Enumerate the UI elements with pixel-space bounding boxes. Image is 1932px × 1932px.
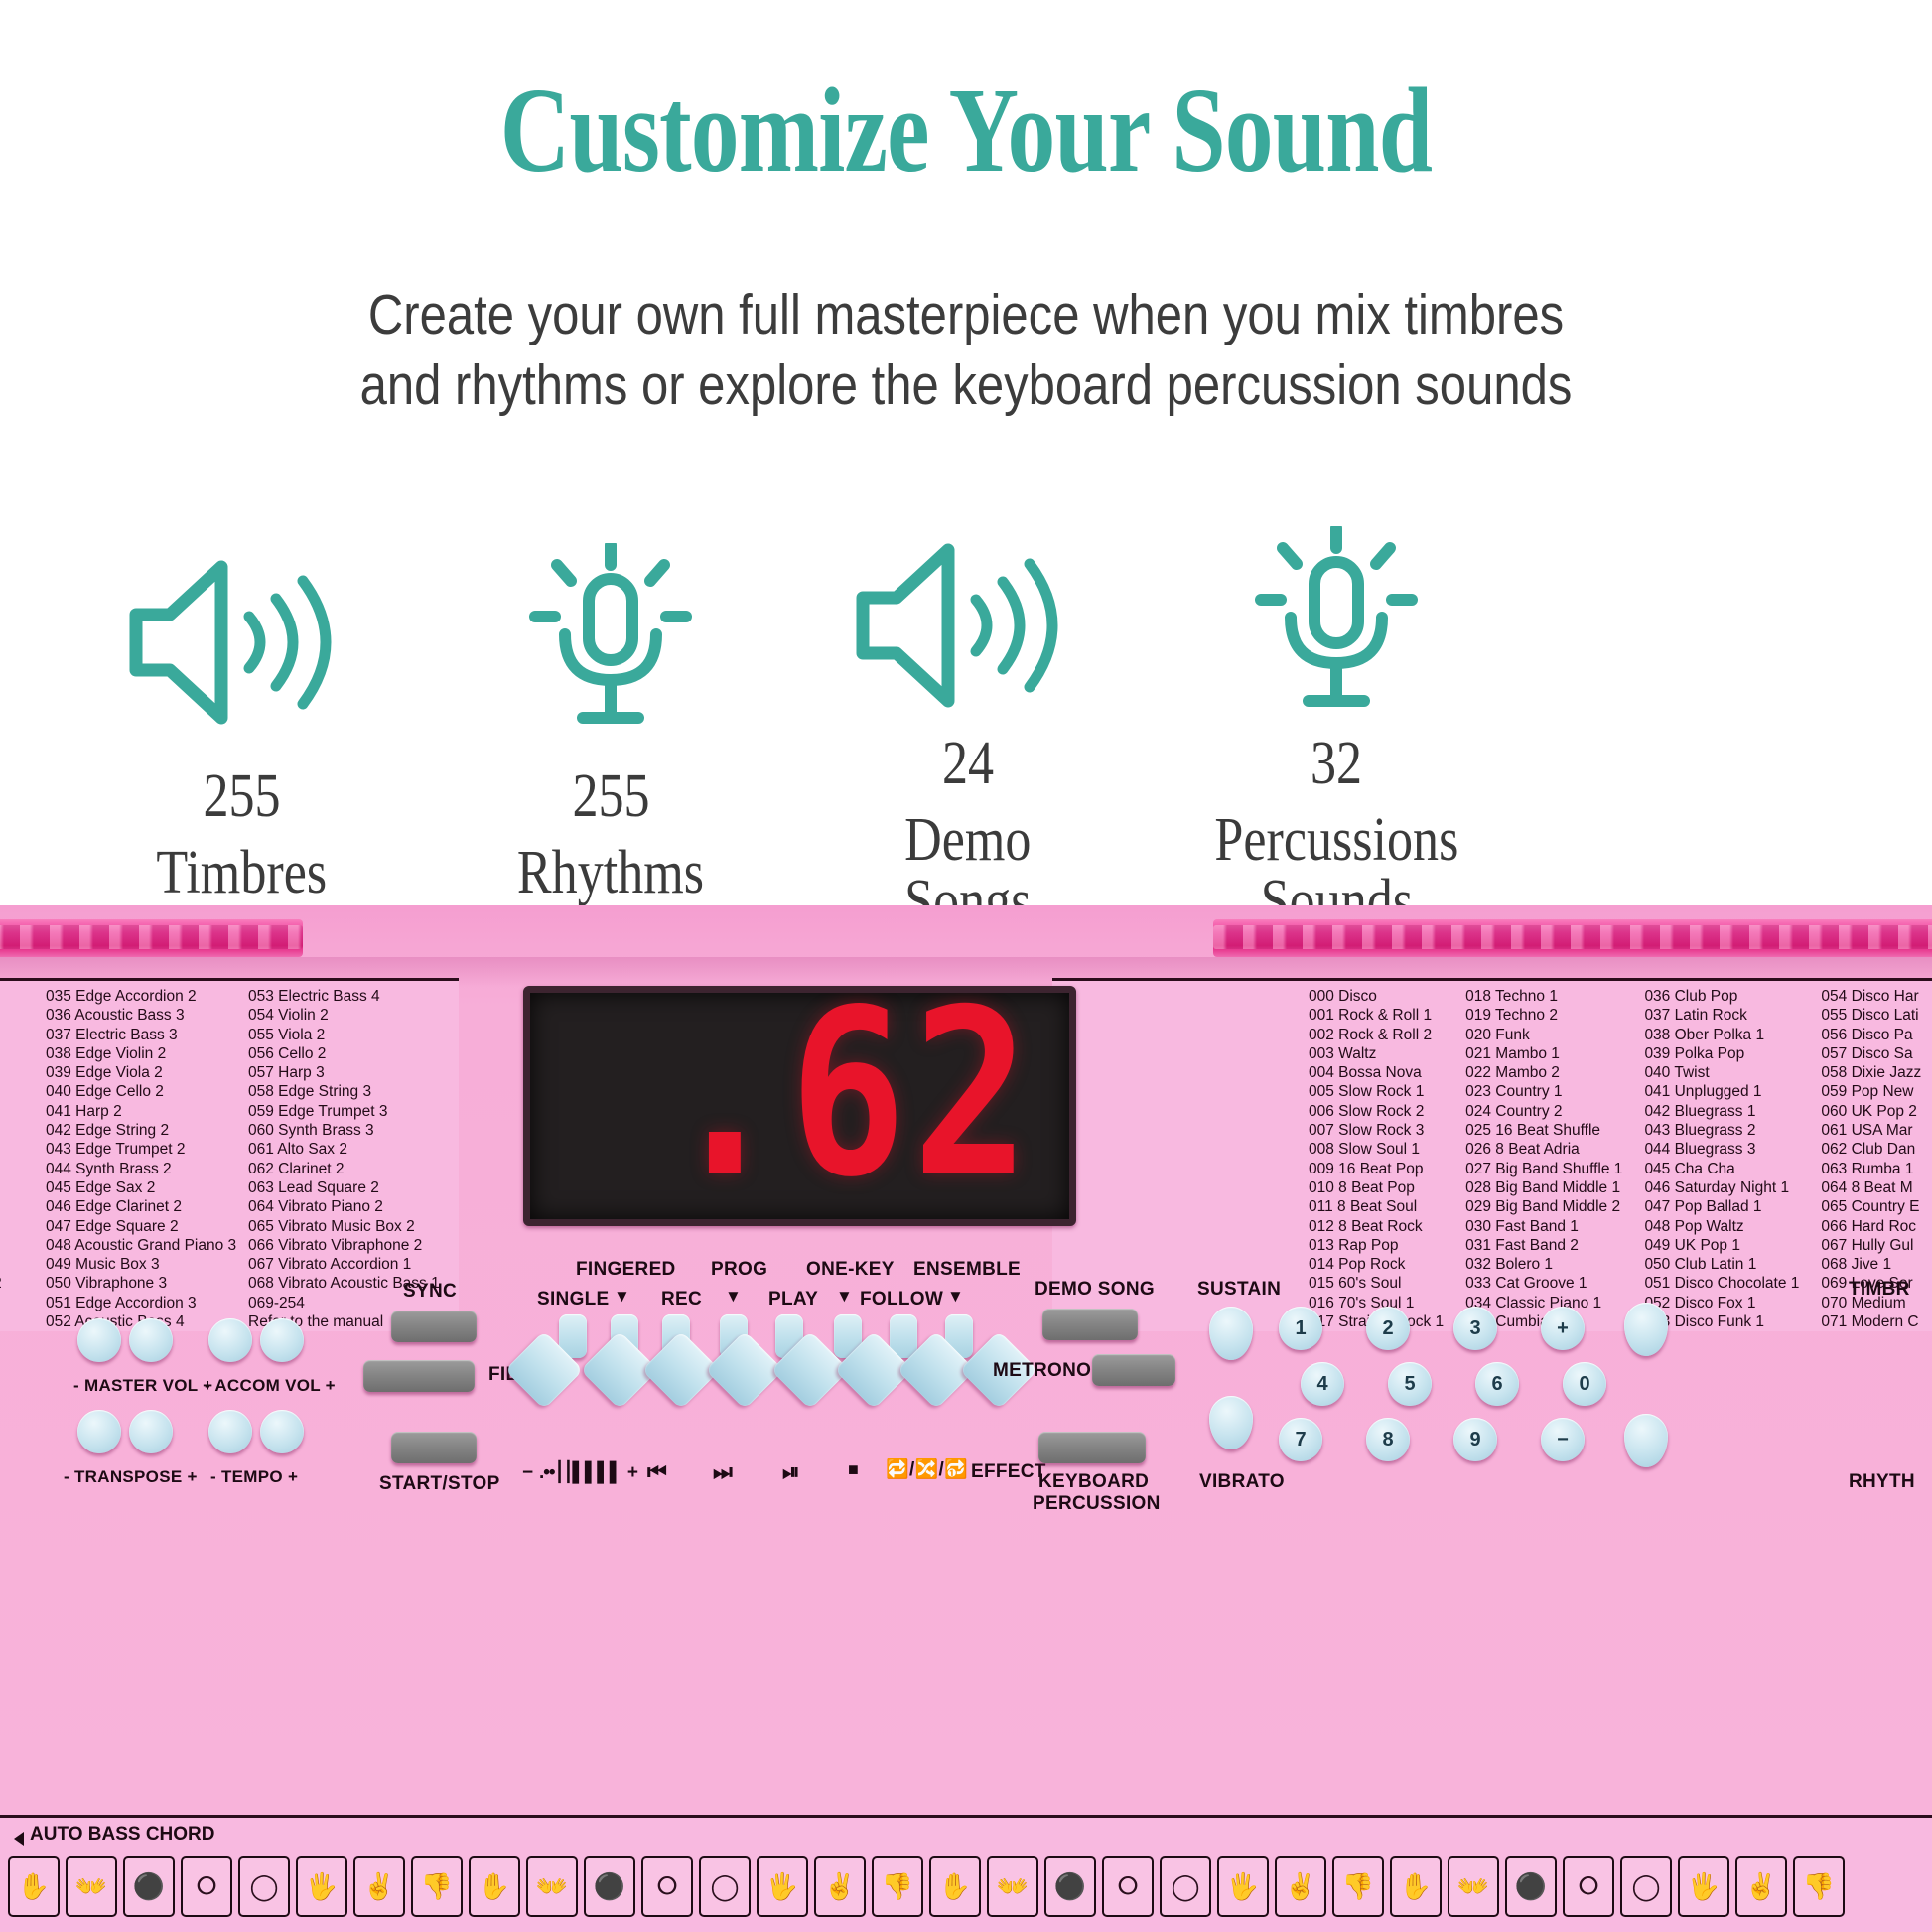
chord-key-icon[interactable]: ◯ (1620, 1856, 1672, 1917)
tempo-plus-button[interactable] (260, 1410, 304, 1453)
list-item: 040 Edge Cello 2 (46, 1082, 226, 1101)
list-item: 057 Disco Sa (1821, 1044, 1932, 1063)
list-item: tic Grand Piano 2 (0, 1274, 24, 1293)
list-item: hone 2 (0, 1312, 24, 1331)
list-item: 045 Edge Sax 2 (46, 1178, 226, 1197)
list-item: 1 (0, 1140, 24, 1159)
start-stop-label: START/STOP (379, 1473, 500, 1495)
list-item: 015 60's Soul (1309, 1274, 1444, 1293)
keyboard-percussion-label-1: KEYBOARD (1038, 1471, 1149, 1493)
list-item: 054 Disco Har (1821, 987, 1932, 1006)
chord-icon-row: ✋ 👐 ⚫ ⭘ ◯ 🖐 ✌ 👎 ✋ 👐 ⚫ ⭘ ◯ 🖐 ✌ 👎 ✋ 👐 ⚫ ⭘ … (8, 1856, 1845, 1917)
list-item: 024 Country 2 (1465, 1102, 1622, 1121)
list-item: Accordion 1 (0, 1026, 24, 1044)
list-item: 047 Pop Ballad 1 (1644, 1197, 1799, 1216)
list-item: 041 Unplugged 1 (1644, 1082, 1799, 1101)
list-item: 060 Synth Brass 3 (248, 1121, 437, 1140)
list-item: 005 Slow Rock 1 (1309, 1082, 1444, 1101)
keyboard-percussion-button[interactable] (1038, 1432, 1146, 1463)
list-item: 042 Bluegrass 1 (1644, 1102, 1799, 1121)
list-item: 036 Acoustic Bass 3 (46, 1006, 226, 1025)
list-item: 064 Vibrato Piano 2 (248, 1197, 437, 1216)
triangle-left-icon (14, 1832, 24, 1846)
repeat-shuffle-icon: 🔁/🔀/🔂 (886, 1457, 968, 1481)
fill-in-button[interactable] (363, 1360, 475, 1392)
timbre-list: o Music Box 1 o Vibraphone 1 Accordion 1… (0, 978, 459, 1331)
list-item: 000 Disco (1309, 987, 1444, 1006)
list-item: 060 UK Pop 2 (1821, 1102, 1932, 1121)
numpad-9-button[interactable]: 9 (1453, 1418, 1497, 1461)
list-item: 031 Fast Band 2 (1465, 1236, 1622, 1255)
list-item: 043 Edge Trumpet 2 (46, 1140, 226, 1159)
list-item: 044 Synth Brass 2 (46, 1160, 226, 1178)
list-item: 037 Latin Rock (1644, 1006, 1799, 1025)
list-item: Violin 1 (0, 1082, 24, 1101)
chord-key-icon[interactable]: ⭘ (1563, 1856, 1614, 1917)
list-item: 065 Vibrato Music Box 2 (248, 1217, 437, 1236)
stop-icon: ■ (848, 1459, 859, 1480)
ensemble-label: ENSEMBLE (913, 1259, 1021, 1281)
page-title: Customize Your Sound (194, 62, 1739, 201)
numpad-5-button[interactable]: 5 (1388, 1362, 1432, 1406)
next-track-button[interactable] (705, 1330, 783, 1409)
keyboard-percussion-label-2: PERCUSSION (1033, 1493, 1161, 1515)
chord-key-icon[interactable]: ✋ (8, 1856, 60, 1917)
chord-key-icon[interactable]: 👎 (411, 1856, 463, 1917)
list-item: 058 Dixie Jazz (1821, 1063, 1932, 1082)
chord-key-icon[interactable]: ✌ (353, 1856, 405, 1917)
list-item: 019 Techno 2 (1465, 1006, 1622, 1025)
chord-key-icon[interactable]: ✋ (1390, 1856, 1442, 1917)
chord-key-icon[interactable]: 👐 (1448, 1856, 1499, 1917)
transpose-label: - TRANSPOSE + (64, 1467, 198, 1487)
list-item: Synth Brass 1 (0, 1197, 24, 1216)
list-item: 068 Jive 1 (1821, 1255, 1932, 1274)
list-item: 026 8 Beat Adria (1465, 1140, 1622, 1159)
list-item: 052 Disco Fox 1 (1644, 1294, 1799, 1312)
list-item: Viola 1 (0, 1102, 24, 1121)
rhythm-col-2: 018 Techno 1 019 Techno 2 020 Funk 021 M… (1465, 987, 1622, 1331)
list-item: 003 Waltz (1309, 1044, 1444, 1063)
led-display-value: .62 (666, 986, 1035, 1209)
chord-key-icon[interactable]: ✌ (1735, 1856, 1787, 1917)
chord-key-icon[interactable]: 🖐 (296, 1856, 347, 1917)
next-track-icon: ⏭ (713, 1459, 733, 1485)
rhythm-list: 000 Disco 001 Rock & Roll 1 002 Rock & R… (1052, 978, 1932, 1331)
auto-bass-chord-label: AUTO BASS CHORD (14, 1824, 215, 1846)
list-item: 065 Country E (1821, 1197, 1932, 1216)
transpose-minus-button[interactable] (77, 1410, 121, 1453)
list-item: 063 Lead Square 2 (248, 1178, 437, 1197)
subtitle-line-1: Create your own full masterpiece when yo… (135, 280, 1797, 350)
list-item: 021 Mambo 1 (1465, 1044, 1622, 1063)
list-item: 006 Slow Rock 2 (1309, 1102, 1444, 1121)
list-item: 038 Ober Polka 1 (1644, 1026, 1799, 1044)
sync-label: SYNC (403, 1281, 457, 1303)
list-item: 045 Cha Cha (1644, 1160, 1799, 1178)
chord-key-icon[interactable]: ⚫ (1044, 1856, 1096, 1917)
chord-key-icon[interactable]: 👐 (987, 1856, 1038, 1917)
rhythm-select-button[interactable] (1624, 1414, 1668, 1467)
numpad-3-button[interactable]: 3 (1453, 1307, 1497, 1350)
chord-key-icon[interactable]: 👐 (66, 1856, 117, 1917)
volume-minus-label: − (522, 1462, 533, 1483)
list-item: Sax 1 (0, 1217, 24, 1236)
list-item: 034 Classic Piano 1 (1465, 1294, 1622, 1312)
feature-label: Timbres (156, 842, 327, 903)
play-label: PLAY (768, 1289, 818, 1311)
list-item: 071 Modern C (1821, 1312, 1932, 1331)
rec-label: REC (661, 1289, 702, 1311)
list-item: 039 Edge Viola 2 (46, 1063, 226, 1082)
feature-stats-row: 255 Timbres 255 Rhythms (0, 526, 1932, 903)
list-item: 030 Fast Band 1 (1465, 1217, 1622, 1236)
master-vol-label: - MASTER VOL + (73, 1376, 212, 1396)
list-item: 043 Bluegrass 2 (1644, 1121, 1799, 1140)
list-item: 062 Club Dan (1821, 1140, 1932, 1159)
page-subtitle: Create your own full masterpiece when yo… (135, 280, 1797, 421)
list-item: Square 1 (0, 1255, 24, 1274)
numpad-plus-button[interactable]: + (1541, 1307, 1585, 1350)
list-item: 067 Hully Gul (1821, 1236, 1932, 1255)
timbre-select-button[interactable] (1624, 1303, 1668, 1356)
list-item: 011 8 Beat Soul (1309, 1197, 1444, 1216)
follow-label: FOLLOW (860, 1289, 943, 1311)
list-item: 029 Big Band Middle 2 (1465, 1197, 1622, 1216)
demo-song-button[interactable] (1042, 1309, 1138, 1340)
accom-vol-minus-button[interactable] (208, 1318, 252, 1362)
microphone-icon (491, 526, 730, 758)
chord-key-icon[interactable]: ⚫ (123, 1856, 175, 1917)
list-item: 055 Viola 2 (248, 1026, 437, 1044)
single-label: SINGLE (537, 1289, 610, 1311)
play-pause-icon: ⏯ (782, 1459, 800, 1485)
chord-key-icon[interactable]: ◯ (1160, 1856, 1211, 1917)
chord-key-icon[interactable]: 🖐 (1678, 1856, 1729, 1917)
list-item: 008 Slow Soul 1 (1309, 1140, 1444, 1159)
list-item: String 1 (0, 1160, 24, 1178)
vibrato-button[interactable] (1209, 1396, 1253, 1449)
master-vol-minus-button[interactable] (77, 1318, 121, 1362)
feature-number: 255 (572, 761, 649, 832)
subtitle-line-2: and rhythms or explore the keyboard perc… (135, 350, 1797, 421)
list-item: 050 Club Latin 1 (1644, 1255, 1799, 1274)
list-item: 002 Rock & Roll 2 (1309, 1026, 1444, 1044)
chord-key-icon[interactable]: 👎 (872, 1856, 923, 1917)
list-item: 057 Harp 3 (248, 1063, 437, 1082)
timbre-col-1: o Music Box 1 o Vibraphone 1 Accordion 1… (0, 987, 24, 1331)
chord-key-icon[interactable]: ⚫ (584, 1856, 635, 1917)
chord-key-icon[interactable]: 🖐 (757, 1856, 808, 1917)
rhythm-col-1: 000 Disco 001 Rock & Roll 1 002 Rock & R… (1309, 987, 1444, 1331)
auto-bass-chord-strip: AUTO BASS CHORD ✋ 👐 ⚫ ⭘ ◯ 🖐 ✌ 👎 ✋ 👐 ⚫ ⭘ … (0, 1815, 1932, 1932)
list-item: 055 Disco Lati (1821, 1006, 1932, 1025)
feature-number: 24 (942, 729, 994, 799)
list-item: 051 Edge Accordion 3 (46, 1294, 226, 1312)
list-item: 046 Saturday Night 1 (1644, 1178, 1799, 1197)
list-item: 032 Bolero 1 (1465, 1255, 1622, 1274)
list-item: 067 Vibrato Accordion 1 (248, 1255, 437, 1274)
list-item: 059 Edge Trumpet 3 (248, 1102, 437, 1121)
rhythm-col-3: 036 Club Pop 037 Latin Rock 038 Ober Pol… (1644, 987, 1799, 1331)
chord-key-icon[interactable]: ⭘ (641, 1856, 693, 1917)
list-item: 059 Pop New (1821, 1082, 1932, 1101)
accom-vol-plus-button[interactable] (260, 1318, 304, 1362)
effect-label: EFFECT (971, 1461, 1046, 1483)
list-item: o Music Box 1 (0, 987, 24, 1006)
speaker-waves-icon (849, 526, 1087, 725)
list-item: 018 Techno 1 (1465, 987, 1622, 1006)
volume-bars-icon: .••⎮⎮▌▌▌▌ (539, 1462, 621, 1483)
list-item: 049 UK Pop 1 (1644, 1236, 1799, 1255)
sync-button[interactable] (391, 1311, 477, 1342)
chord-key-icon[interactable]: ⭘ (181, 1856, 232, 1917)
numpad-0-button[interactable]: 0 (1563, 1362, 1606, 1406)
tempo-minus-button[interactable] (208, 1410, 252, 1453)
list-item: 056 Cello 2 (248, 1044, 437, 1063)
list-item: 014 Pop Rock (1309, 1255, 1444, 1274)
list-item: 001 Rock & Roll 1 (1309, 1006, 1444, 1025)
numpad-8-button[interactable]: 8 (1366, 1418, 1410, 1461)
chord-key-icon[interactable]: ◯ (699, 1856, 751, 1917)
keyboard-product-photo: o Music Box 1 o Vibraphone 1 Accordion 1… (0, 905, 1932, 1932)
list-item: 009 16 Beat Pop (1309, 1160, 1444, 1178)
list-item: 012 8 Beat Rock (1309, 1217, 1444, 1236)
list-item: Clarinet 1 (0, 1236, 24, 1255)
sustain-label: SUSTAIN (1197, 1279, 1281, 1301)
list-item: 038 Edge Violin 2 (46, 1044, 226, 1063)
chord-key-icon[interactable]: ⭘ (1102, 1856, 1154, 1917)
speaker-grille-right (1213, 919, 1932, 957)
list-item: 042 Edge String 2 (46, 1121, 226, 1140)
chevron-down-icon: ▼ (725, 1287, 742, 1307)
list-item: 061 USA Mar (1821, 1121, 1932, 1140)
list-item: 041 Harp 2 (46, 1102, 226, 1121)
feature-percussions: 32 Percussions Sounds (1095, 526, 1578, 903)
timbre-col-2: 035 Edge Accordion 2 036 Acoustic Bass 3… (46, 987, 226, 1331)
list-item: 007 Slow Rock 3 (1309, 1121, 1444, 1140)
list-item: 046 Edge Clarinet 2 (46, 1197, 226, 1216)
list-item: 062 Clarinet 2 (248, 1160, 437, 1178)
hero-section: Customize Your Sound Create your own ful… (0, 0, 1932, 905)
start-stop-button[interactable] (391, 1432, 477, 1463)
list-item: o Vibraphone 1 (0, 1006, 24, 1025)
accom-vol-label: - ACCOM VOL + (205, 1376, 336, 1396)
list-item: 023 Country 1 (1465, 1082, 1622, 1101)
microphone-icon (1217, 526, 1455, 725)
list-item: 040 Twist (1644, 1063, 1799, 1082)
chord-key-icon[interactable]: ✌ (814, 1856, 866, 1917)
chord-key-icon[interactable]: ◯ (238, 1856, 290, 1917)
list-item: 056 Disco Pa (1821, 1026, 1932, 1044)
chord-key-icon[interactable]: 👐 (526, 1856, 578, 1917)
tempo-label: - TEMPO + (210, 1467, 298, 1487)
list-item: 066 Vibrato Vibraphone 2 (248, 1236, 437, 1255)
chevron-down-icon: ▼ (836, 1287, 853, 1307)
list-item: tic Bass 2 (0, 1044, 24, 1063)
list-item: 013 Rap Pop (1309, 1236, 1444, 1255)
master-vol-plus-button[interactable] (129, 1318, 173, 1362)
list-item: 061 Alto Sax 2 (248, 1140, 437, 1159)
list-item: 022 Mambo 2 (1465, 1063, 1622, 1082)
demo-song-label: DEMO SONG (1035, 1279, 1155, 1301)
list-item: 050 Vibraphone 3 (46, 1274, 226, 1293)
list-item: 063 Rumba 1 (1821, 1160, 1932, 1178)
list-item: 047 Edge Square 2 (46, 1217, 226, 1236)
chevron-down-icon: ▼ (947, 1287, 964, 1307)
chord-key-icon[interactable]: 👎 (1332, 1856, 1384, 1917)
list-item: 025 16 Beat Shuffle (1465, 1121, 1622, 1140)
transpose-plus-button[interactable] (129, 1410, 173, 1453)
volume-plus-label: + (627, 1462, 638, 1483)
list-item: 036 Club Pop (1644, 987, 1799, 1006)
numpad-7-button[interactable]: 7 (1279, 1418, 1322, 1461)
list-item: 053 Electric Bass 4 (248, 987, 437, 1006)
chord-key-icon[interactable]: 👎 (1793, 1856, 1845, 1917)
one-key-label: ONE-KEY (806, 1259, 895, 1281)
list-item: 064 8 Beat M (1821, 1178, 1932, 1197)
fingered-label: FINGERED (576, 1259, 676, 1281)
list-item: Cello 1 (0, 1121, 24, 1140)
speaker-grille-left (0, 919, 303, 957)
timbre-label: TIMBR (1849, 1279, 1910, 1301)
list-item: Box 2 (0, 1294, 24, 1312)
numpad-minus-button[interactable]: − (1541, 1418, 1585, 1461)
list-item: 054 Violin 2 (248, 1006, 437, 1025)
chord-key-icon[interactable]: ✋ (929, 1856, 981, 1917)
numpad-6-button[interactable]: 6 (1475, 1362, 1519, 1406)
list-item: 049 Music Box 3 (46, 1255, 226, 1274)
list-item: 051 Disco Chocolate 1 (1644, 1274, 1799, 1293)
list-item: 048 Pop Waltz (1644, 1217, 1799, 1236)
numpad-1-button[interactable]: 1 (1279, 1307, 1322, 1350)
vibrato-label: VIBRATO (1199, 1471, 1285, 1493)
list-item: 044 Bluegrass 3 (1644, 1140, 1799, 1159)
prev-track-icon: ⏮ (647, 1459, 667, 1485)
list-item: 035 Edge Accordion 2 (46, 987, 226, 1006)
chord-key-icon[interactable]: ⚫ (1505, 1856, 1557, 1917)
feature-number: 32 (1311, 729, 1362, 799)
chevron-down-icon: ▼ (614, 1287, 630, 1307)
list-item: 066 Hard Roc (1821, 1217, 1932, 1236)
speaker-waves-icon (122, 526, 360, 758)
led-display: .62 (523, 986, 1076, 1226)
volume-slider-label: − .••⎮⎮▌▌▌▌ + (522, 1461, 638, 1484)
chord-key-icon[interactable]: ✌ (1275, 1856, 1326, 1917)
list-item: 039 Polka Pop (1644, 1044, 1799, 1063)
list-item: 058 Edge String 3 (248, 1082, 437, 1101)
feature-number: 255 (203, 761, 280, 832)
list-item: Trumpet 1 (0, 1178, 24, 1197)
rhythm-label: RHYTH (1849, 1471, 1915, 1493)
numpad-4-button[interactable]: 4 (1301, 1362, 1344, 1406)
list-item: 004 Bossa Nova (1309, 1063, 1444, 1082)
list-item: 027 Big Band Shuffle 1 (1465, 1160, 1622, 1178)
list-item: 037 Electric Bass 3 (46, 1026, 226, 1044)
list-item: 010 8 Beat Pop (1309, 1178, 1444, 1197)
sustain-button[interactable] (1209, 1307, 1253, 1360)
metronome-button[interactable] (1092, 1354, 1175, 1386)
list-item: 033 Cat Groove 1 (1465, 1274, 1622, 1293)
list-item: 028 Big Band Middle 1 (1465, 1178, 1622, 1197)
chord-key-icon[interactable]: 🖐 (1217, 1856, 1269, 1917)
feature-label: Rhythms (517, 842, 704, 903)
chord-key-icon[interactable]: ✋ (469, 1856, 520, 1917)
numpad-2-button[interactable]: 2 (1366, 1307, 1410, 1350)
prog-label: PROG (711, 1259, 767, 1281)
list-item: 048 Acoustic Grand Piano 3 (46, 1236, 226, 1255)
list-item: ic Bass 2 (0, 1063, 24, 1082)
list-item: 020 Funk (1465, 1026, 1622, 1044)
